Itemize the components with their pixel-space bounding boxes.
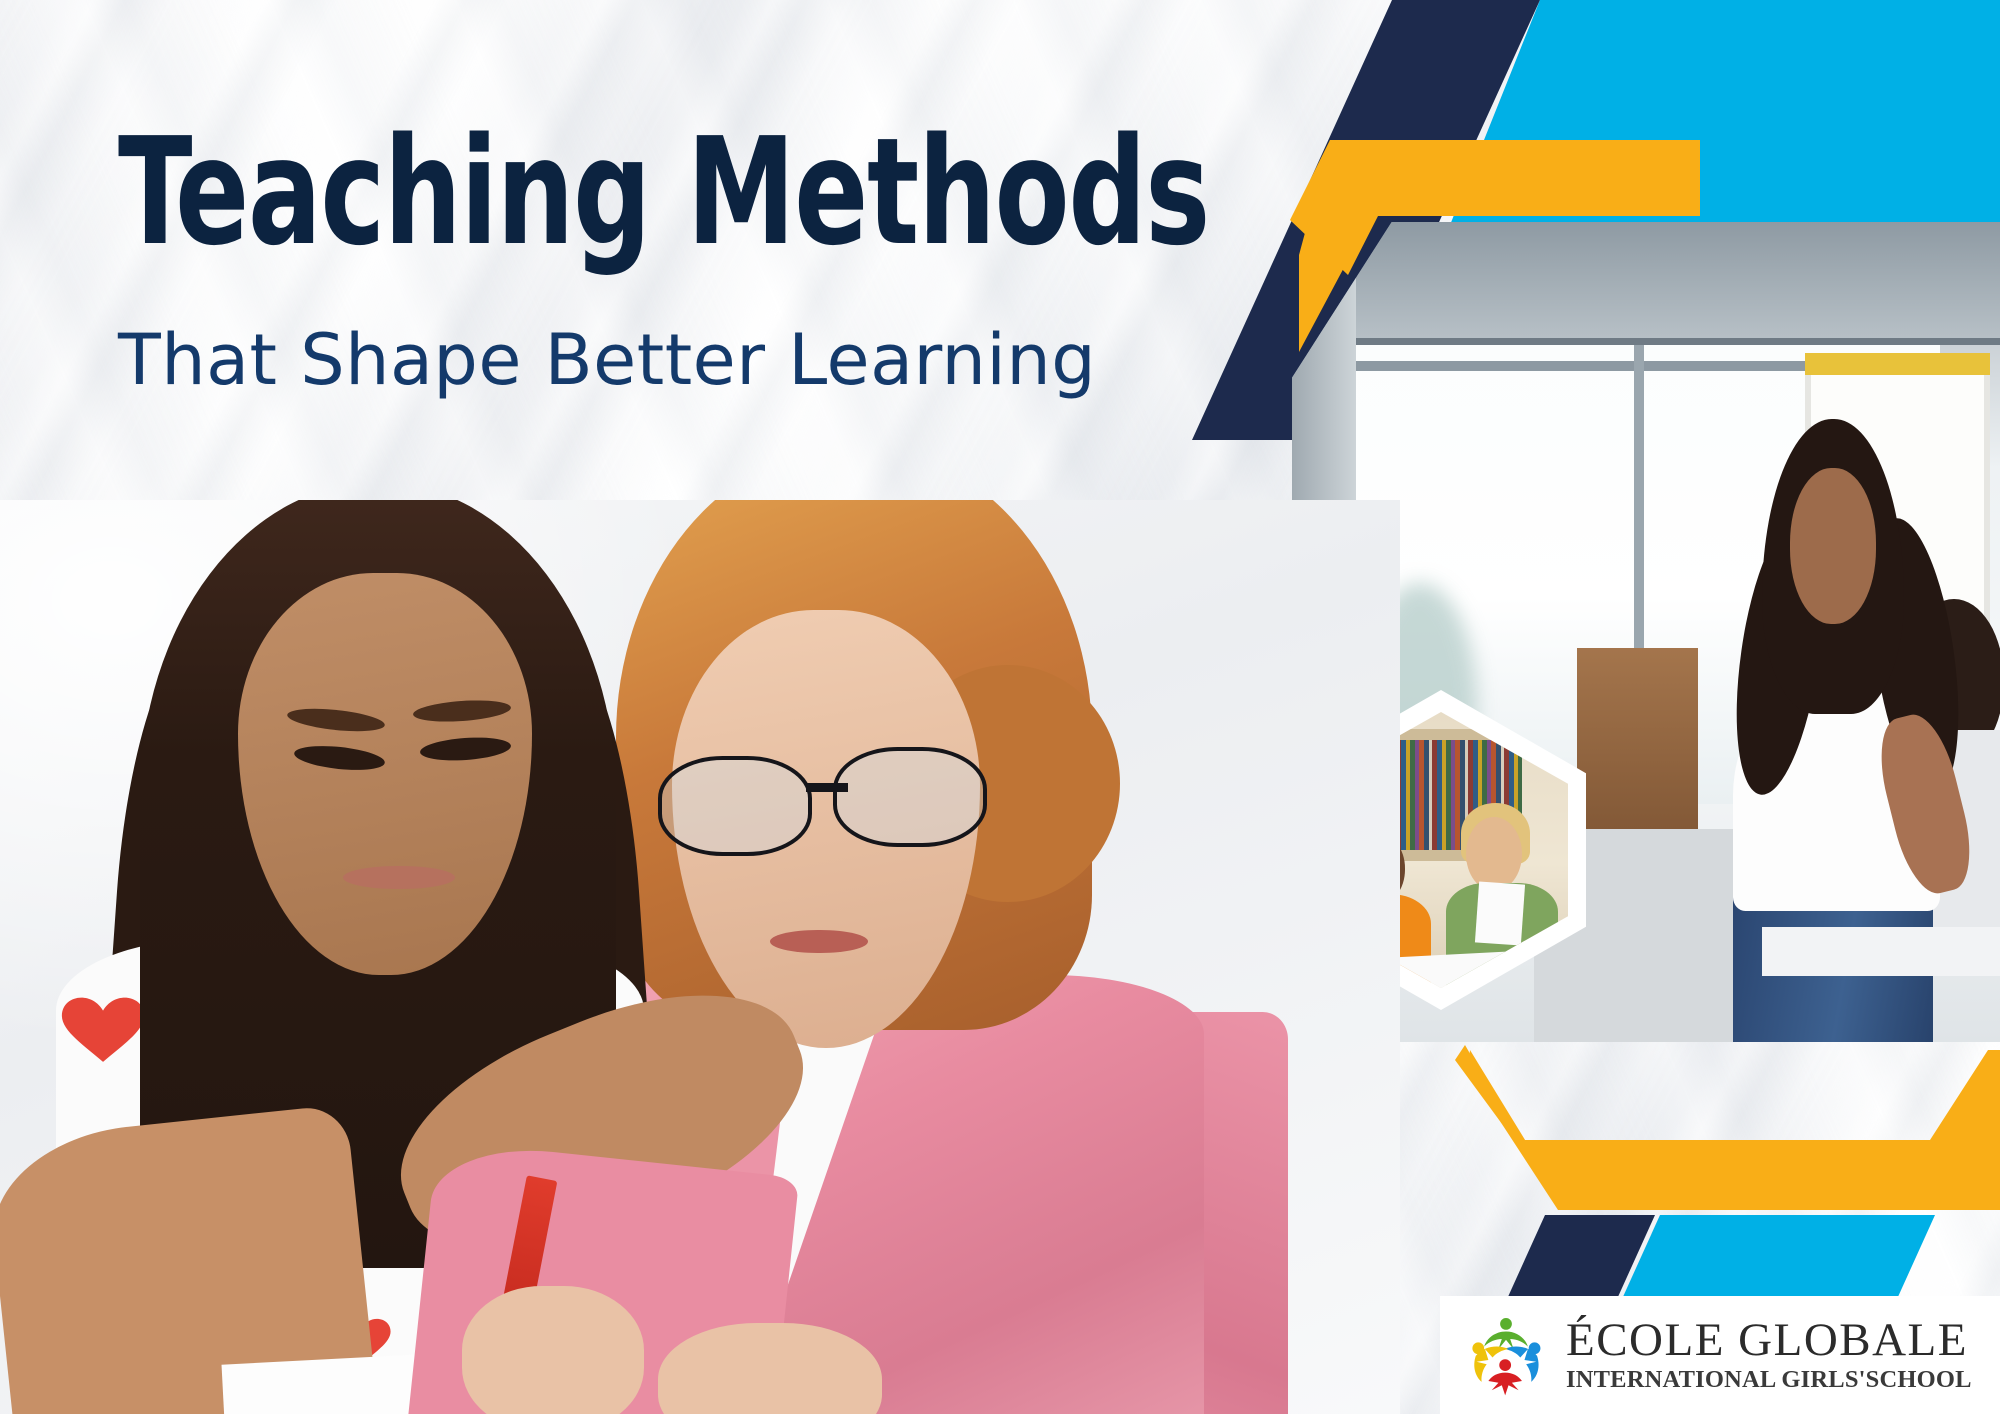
brand-tagline: INTERNATIONAL GIRLS'SCHOOL bbox=[1566, 1367, 1972, 1394]
brand-name: ÉCOLE GLOBALE bbox=[1566, 1317, 1972, 1365]
headline-block: Teaching Methods That Shape Better Learn… bbox=[118, 120, 1118, 395]
teacher-hand-on-page bbox=[658, 1323, 882, 1414]
tutor-collar bbox=[1474, 882, 1524, 946]
presenter-face bbox=[1790, 468, 1875, 624]
teacher-hand-with-pen bbox=[462, 1286, 644, 1414]
brand-text: ÉCOLE GLOBALE INTERNATIONAL GIRLS'SCHOOL bbox=[1566, 1317, 1972, 1394]
teacher-glasses-bridge bbox=[806, 783, 848, 792]
poster-canvas: Teaching Methods That Shape Better Learn… bbox=[0, 0, 2000, 1414]
page-title: Teaching Methods bbox=[118, 120, 938, 265]
teacher-glasses-right-lens bbox=[833, 747, 987, 848]
page-subtitle: That Shape Better Learning bbox=[118, 325, 1118, 395]
student-lips bbox=[343, 866, 455, 890]
teacher-glasses-left-lens bbox=[658, 756, 812, 857]
teacher-lips bbox=[770, 930, 868, 954]
circle-of-people-icon bbox=[1464, 1313, 1548, 1397]
photo-teacher-and-student bbox=[0, 500, 1400, 1414]
ceiling bbox=[1292, 222, 2000, 345]
whiteboard-top-strip bbox=[1805, 353, 1990, 375]
brand-logo[interactable]: ÉCOLE GLOBALE INTERNATIONAL GIRLS'SCHOOL bbox=[1440, 1296, 2000, 1414]
desk-surface bbox=[1762, 927, 2000, 976]
